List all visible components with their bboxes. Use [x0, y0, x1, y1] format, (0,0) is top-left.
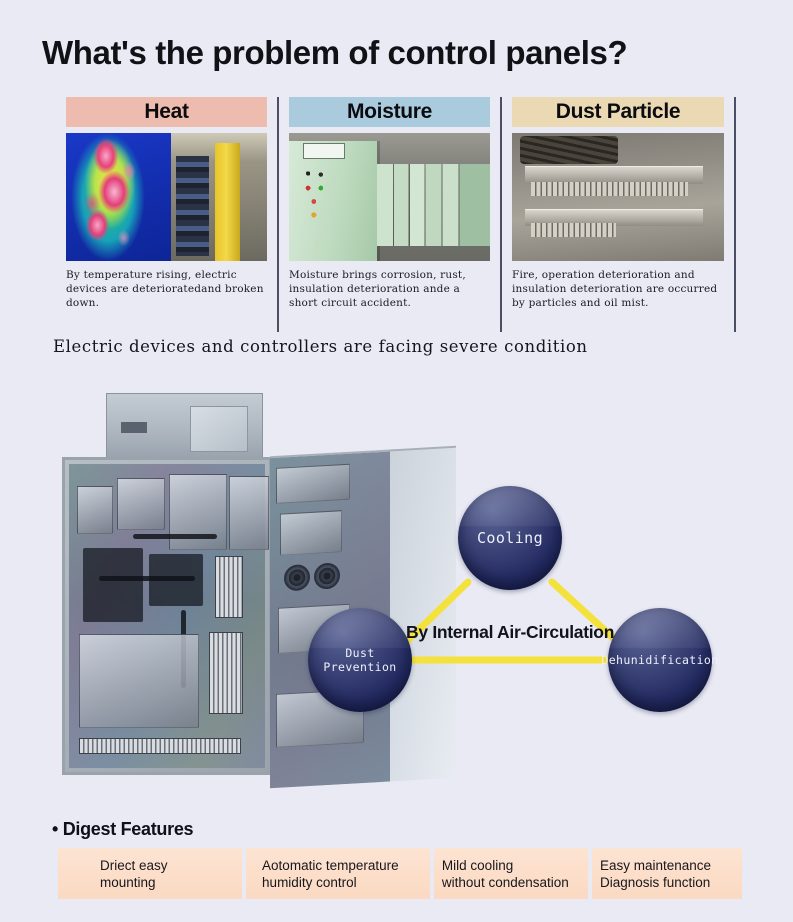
- feature-line-1: Mild cooling: [442, 857, 580, 874]
- diagram-center-label: By Internal Air-Circulation: [406, 622, 614, 643]
- cabinet-top-access-panel: [190, 406, 248, 452]
- feature-line-2: Diagnosis function: [600, 874, 734, 891]
- cabinet-interior: [69, 464, 265, 768]
- problem-cards-row: Heat By temperature rising, electric dev…: [56, 97, 736, 332]
- cabinet-top-nameplate: [121, 422, 147, 433]
- breaker-row-lower: [531, 223, 616, 237]
- problem-card-heat: Heat By temperature rising, electric dev…: [56, 97, 279, 332]
- problem-card-image-cabinets: [289, 133, 490, 261]
- component-lower-plate: [79, 634, 199, 728]
- terminal-strip-bottom: [79, 738, 241, 754]
- diagram-node-label: Cooling: [477, 529, 543, 547]
- diagram-node-dehumidification[interactable]: Dehunidification: [608, 608, 712, 712]
- cabinet-main-enclosure: [62, 457, 272, 775]
- thermal-image-half: [66, 133, 171, 261]
- tagline: Electric devices and controllers are fac…: [53, 337, 588, 356]
- component-relay-bank: [117, 478, 165, 530]
- feature-line-1: Driect easy: [100, 857, 234, 874]
- feature-line-1: Easy maintenance: [600, 857, 734, 874]
- problem-card-heading: Dust Particle: [512, 97, 724, 127]
- problem-card-caption: Moisture brings corrosion, rust, insulat…: [289, 268, 490, 310]
- page-title: What's the problem of control panels?: [42, 34, 627, 72]
- feature-box: Easy maintenance Diagnosis function: [592, 848, 742, 899]
- dusty-panel-photo: [512, 133, 724, 261]
- cabinet-top-unit: [106, 393, 263, 461]
- problem-card-moisture: Moisture Moisture brings corrosion, rust…: [279, 97, 502, 332]
- problem-card-heading: Heat: [66, 97, 267, 127]
- feature-line-2: without condensation: [442, 874, 580, 891]
- cabinet-indicator-lights: [301, 169, 333, 225]
- problem-card-dust-particle: Dust Particle Fire, operation deteriorat…: [502, 97, 736, 332]
- terminal-strip-vertical: [215, 556, 243, 618]
- diagram-node-cooling[interactable]: Cooling: [458, 486, 562, 590]
- problem-card-heading: Moisture: [289, 97, 490, 127]
- component-breaker: [77, 486, 113, 534]
- cabinet-gauge: [303, 143, 345, 159]
- problem-card-image-thermal: [66, 133, 267, 261]
- cable-bundle: [520, 136, 618, 164]
- breaker-row-upper: [531, 182, 688, 196]
- digest-features-title: • Digest Features: [52, 819, 193, 840]
- feature-line-1: Aotomatic temperature: [262, 857, 422, 874]
- component-contactor-a: [83, 548, 143, 622]
- problem-card-caption: By temperature rising, electric devices …: [66, 268, 267, 310]
- problem-card-caption: Fire, operation deterioration and insula…: [512, 268, 724, 310]
- diagram-node-dust-prevention[interactable]: Dust Prevention: [308, 608, 412, 712]
- feature-box: Driect easy mounting: [58, 848, 242, 899]
- terminal-strip-lower: [209, 632, 243, 714]
- digest-features-row: Driect easy mounting Aotomatic temperatu…: [58, 848, 742, 899]
- feature-line-2: humidity control: [262, 874, 422, 891]
- wire-harness-b: [99, 576, 195, 581]
- diagram-node-label: Dehunidification: [601, 653, 718, 667]
- diagram-node-label: Dust Prevention: [308, 646, 412, 674]
- problem-card-image-dust: [512, 133, 724, 261]
- feature-box: Aotomatic temperature humidity control: [246, 848, 430, 899]
- air-circulation-diagram: Cooling Dust Prevention Dehunidification…: [290, 470, 750, 720]
- yellow-panel-photo-half: [171, 133, 267, 261]
- component-terminal-block: [229, 476, 269, 550]
- feature-line-2: mounting: [100, 874, 234, 891]
- wire-harness-a: [133, 534, 217, 539]
- feature-box: Mild cooling without condensation: [434, 848, 588, 899]
